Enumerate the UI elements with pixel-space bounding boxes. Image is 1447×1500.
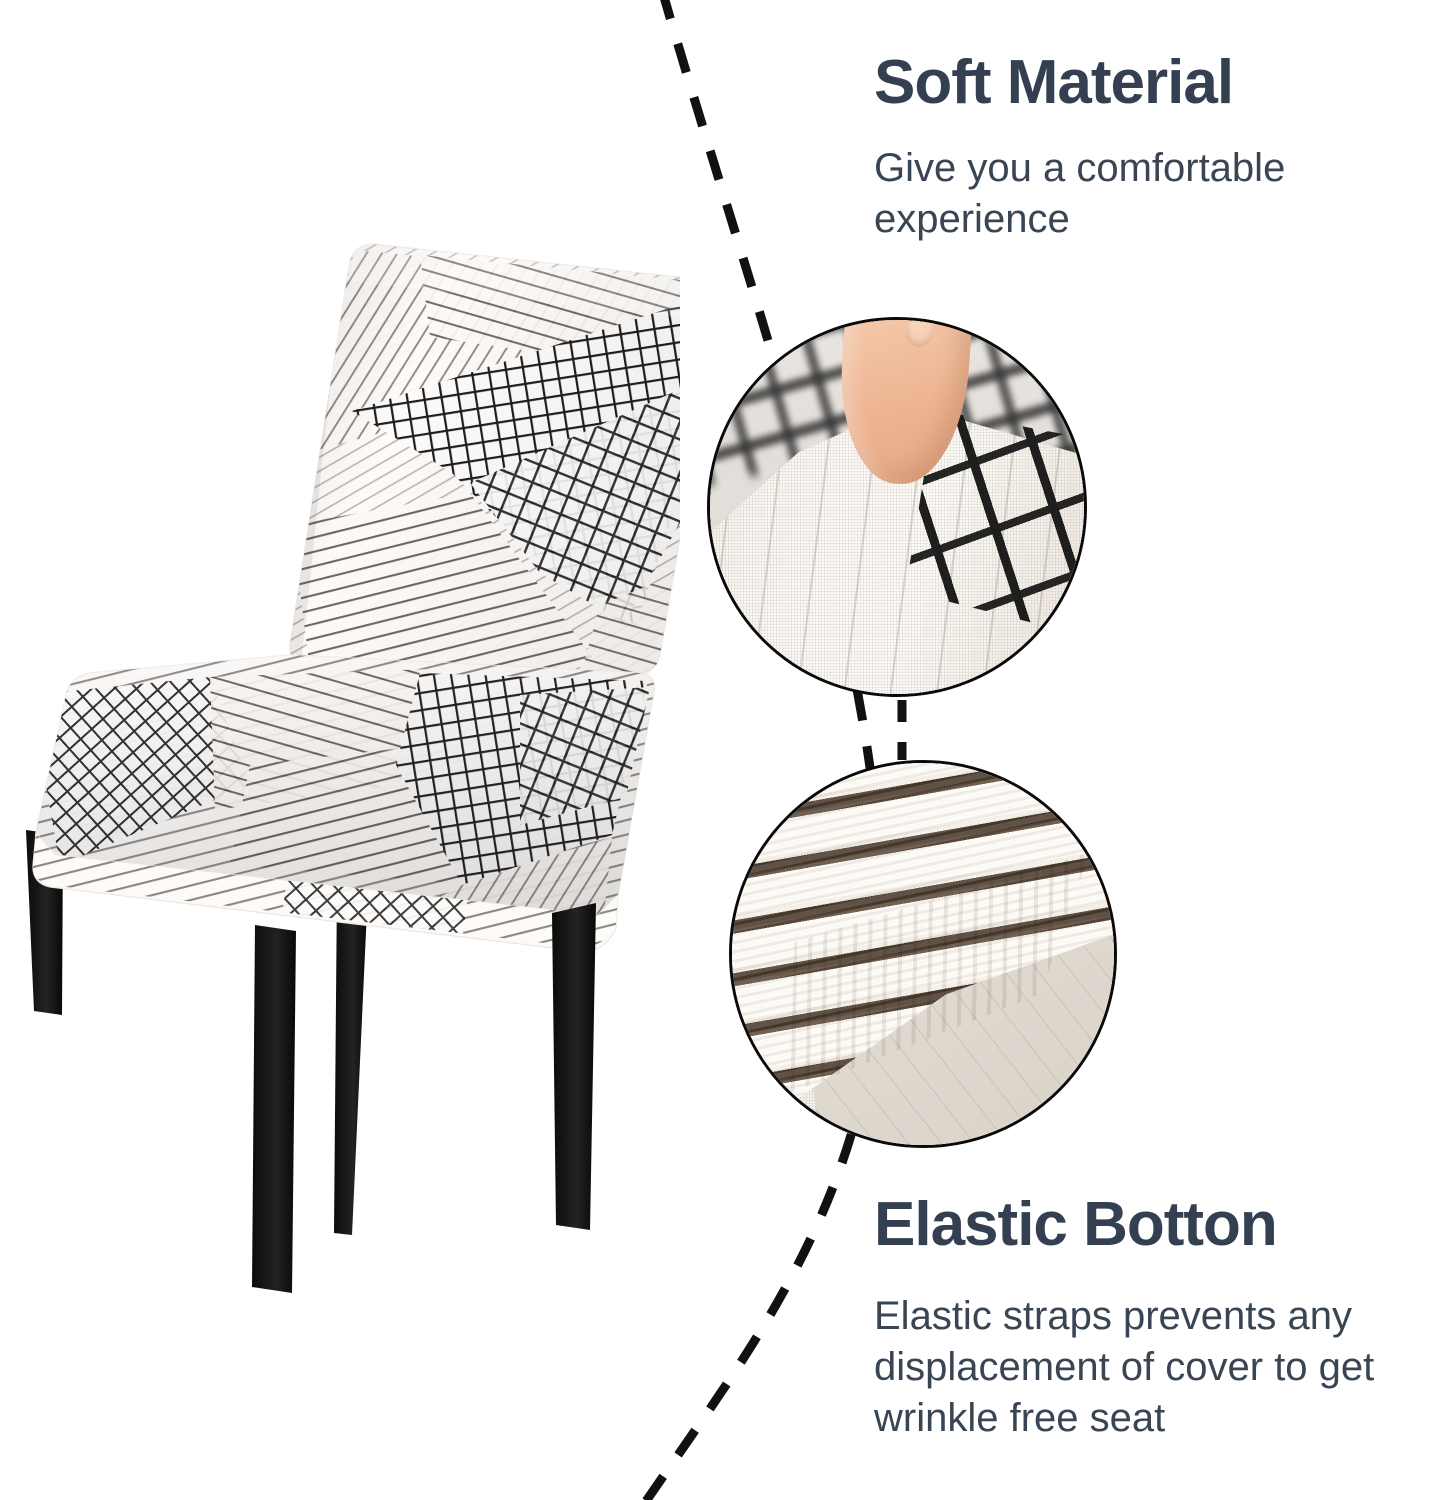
- product-chair-image: [0, 225, 680, 1305]
- callout-circle-soft-material: [707, 317, 1087, 697]
- chair-leg-front-right: [552, 903, 596, 1230]
- feature-block-elastic-botton: Elastic Botton Elastic straps prevents a…: [874, 1192, 1447, 1445]
- finger-pinch-fabric-photo: [710, 320, 1084, 694]
- infographic-canvas: Soft Material Give you a comfortable exp…: [0, 0, 1447, 1500]
- feature-title-elastic-botton: Elastic Botton: [874, 1192, 1447, 1257]
- chair-backrest: [280, 235, 680, 695]
- elastic-gathered-hem-photo: [732, 763, 1114, 1145]
- fingernail: [903, 317, 939, 349]
- feature-block-soft-material: Soft Material Give you a comfortable exp…: [874, 50, 1394, 245]
- chair-illustration: [0, 225, 680, 1305]
- chair-leg-rear-right: [334, 885, 368, 1235]
- chair-leg-front-left: [252, 925, 296, 1293]
- feature-description-soft-material: Give you a comfortable experience: [874, 143, 1394, 245]
- callout-circle-elastic-botton: [729, 760, 1117, 1148]
- feature-description-elastic-botton: Elastic straps prevents any displacement…: [874, 1291, 1447, 1445]
- chair-legs-front: [252, 903, 596, 1293]
- feature-title-soft-material: Soft Material: [874, 50, 1394, 115]
